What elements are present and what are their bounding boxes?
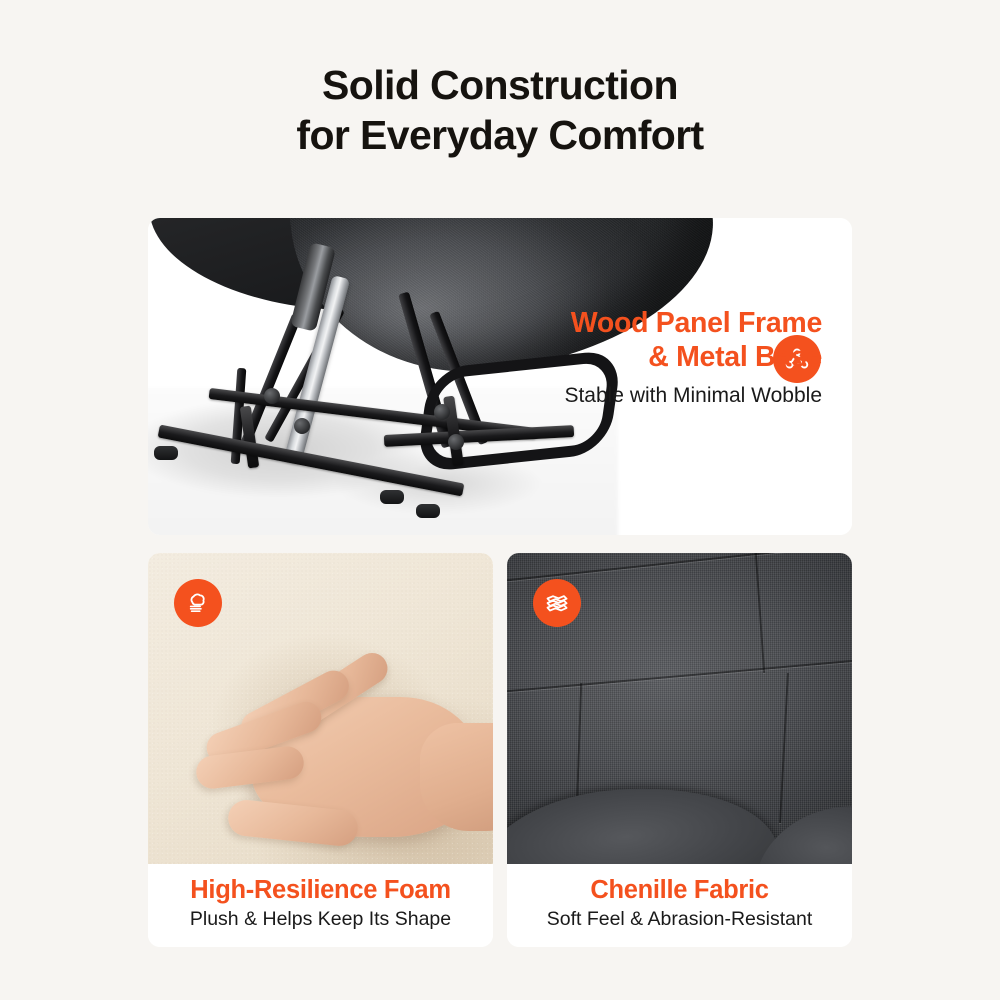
fabric-layers-icon bbox=[533, 579, 581, 627]
foam-subtitle: Plush & Helps Keep Its Shape bbox=[148, 907, 493, 932]
hand-illustration bbox=[170, 631, 490, 864]
foam-photo bbox=[148, 553, 493, 864]
base-foot bbox=[416, 504, 440, 518]
pivot-bolt bbox=[294, 418, 310, 434]
feature-card-foam: High-Resilience Foam Plush & Helps Keep … bbox=[148, 553, 493, 947]
infographic-page: Solid Construction for Everyday Comfort bbox=[0, 0, 1000, 1000]
page-title: Solid Construction for Everyday Comfort bbox=[0, 60, 1000, 160]
feature-card-fabric: Chenille Fabric Soft Feel & Abrasion-Res… bbox=[507, 553, 852, 947]
frame-title-line-2: & Metal Base bbox=[492, 340, 822, 374]
base-foot bbox=[380, 490, 404, 504]
frame-subtitle: Stable with Minimal Wobble bbox=[492, 383, 822, 409]
foam-title: High-Resilience Foam bbox=[148, 875, 493, 906]
foam-caption: High-Resilience Foam Plush & Helps Keep … bbox=[148, 864, 493, 947]
fabric-subtitle: Soft Feel & Abrasion-Resistant bbox=[507, 907, 852, 932]
frame-title-line-1: Wood Panel Frame bbox=[492, 306, 822, 340]
foam-cushion-icon bbox=[174, 579, 222, 627]
fabric-photo bbox=[507, 553, 852, 864]
feature-card-frame: Wood Panel Frame & Metal Base Stable wit… bbox=[148, 218, 852, 535]
frame-text-block: Wood Panel Frame & Metal Base Stable wit… bbox=[492, 306, 822, 409]
fabric-title: Chenille Fabric bbox=[507, 875, 852, 906]
page-title-line-1: Solid Construction bbox=[0, 60, 1000, 110]
page-title-line-2: for Everyday Comfort bbox=[0, 110, 1000, 160]
base-foot bbox=[154, 446, 178, 460]
fabric-caption: Chenille Fabric Soft Feel & Abrasion-Res… bbox=[507, 864, 852, 947]
frame-title: Wood Panel Frame & Metal Base bbox=[492, 306, 822, 374]
pivot-bolt bbox=[448, 434, 464, 450]
pivot-bolt bbox=[434, 404, 450, 420]
pivot-bolt bbox=[264, 388, 280, 404]
